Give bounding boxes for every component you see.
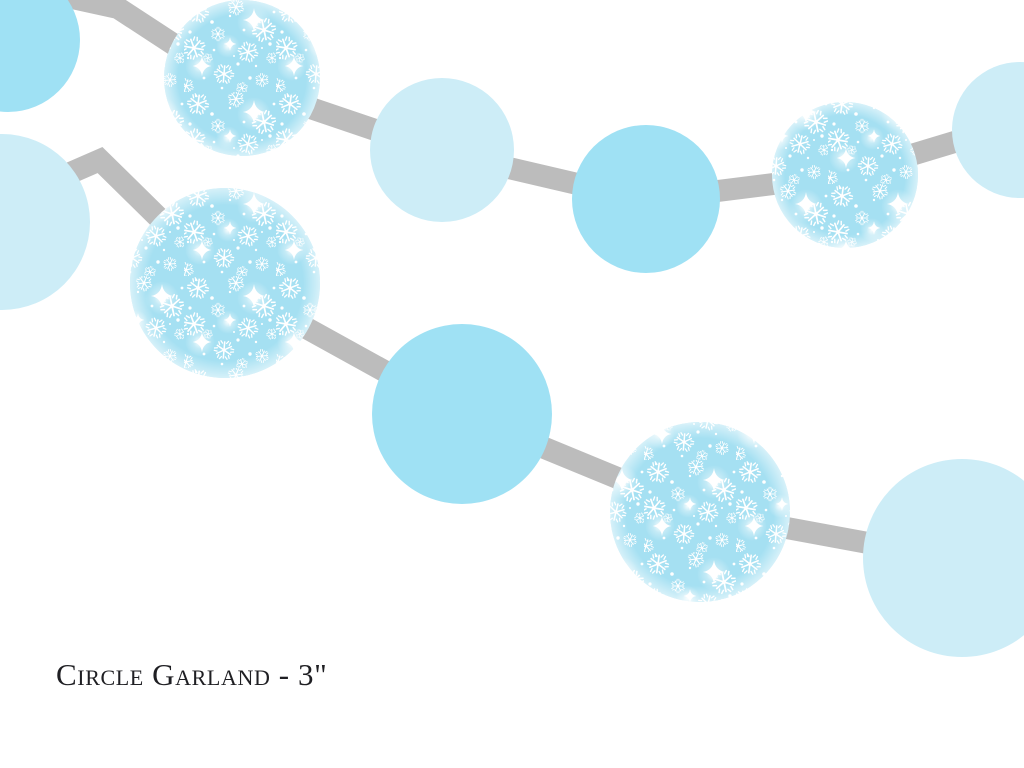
circle-9-medium-large-center xyxy=(372,324,552,504)
circle-8-snowflake-left xyxy=(130,188,320,378)
circle-3-pale-upper xyxy=(370,78,514,222)
circle-10-snowflake-bottom xyxy=(610,422,790,602)
circle-4-medium-upper xyxy=(572,125,720,273)
circle-2-snowflake-top xyxy=(164,0,320,156)
caption-line-title: Circle Garland - 3" xyxy=(56,649,576,701)
circle-5-snowflake-upper-right xyxy=(772,102,918,248)
product-image-canvas: Circle Garland - 3" Perfect for horizont… xyxy=(0,0,1024,768)
product-caption: Circle Garland - 3" Perfect for horizont… xyxy=(56,545,576,768)
